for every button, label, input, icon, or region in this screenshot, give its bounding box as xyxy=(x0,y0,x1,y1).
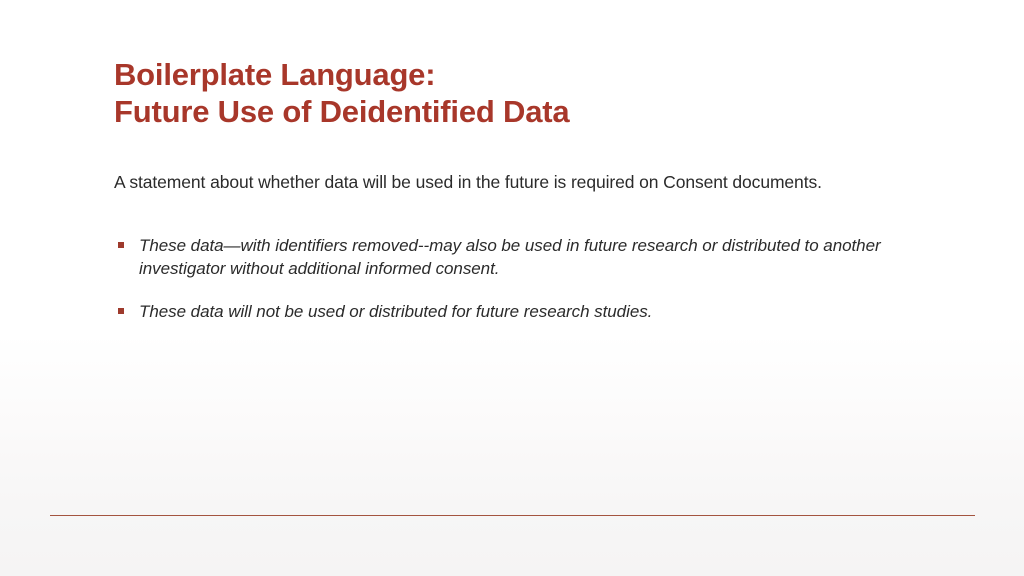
slide-title-line-2: Future Use of Deidentified Data xyxy=(114,93,944,130)
slide-canvas: Boilerplate Language: Future Use of Deid… xyxy=(0,0,1024,576)
list-item-text: These data—with identifiers removed--may… xyxy=(139,234,904,280)
list-item-text: These data will not be used or distribut… xyxy=(139,300,904,323)
list-item: These data will not be used or distribut… xyxy=(114,300,904,323)
bullet-list: These data—with identifiers removed--may… xyxy=(114,234,904,323)
intro-paragraph: A statement about whether data will be u… xyxy=(114,170,886,194)
slide-title: Boilerplate Language: Future Use of Deid… xyxy=(114,56,944,130)
slide-title-line-1: Boilerplate Language: xyxy=(114,56,944,93)
list-item: These data—with identifiers removed--may… xyxy=(114,234,904,280)
square-bullet-icon xyxy=(118,308,124,314)
footer-divider xyxy=(50,515,975,516)
square-bullet-icon xyxy=(118,242,124,248)
